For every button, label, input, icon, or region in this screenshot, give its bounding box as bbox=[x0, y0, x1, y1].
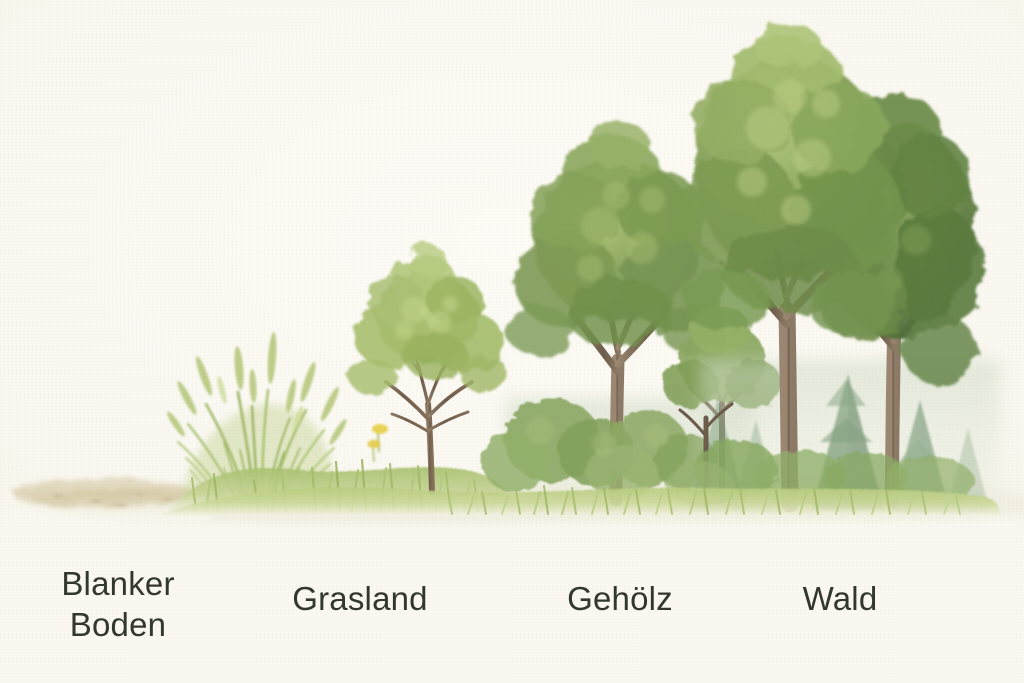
stage-label-grasland: Grasland bbox=[260, 578, 460, 619]
stage-label-blanker-boden: Blanker Boden bbox=[18, 563, 218, 645]
stage-label-wald: Wald bbox=[740, 578, 940, 619]
illustration-canvas: Blanker Boden Grasland Gehölz Wald bbox=[0, 0, 1024, 683]
stage-labels: Blanker Boden Grasland Gehölz Wald bbox=[0, 0, 1024, 683]
stage-label-gehoelz: Gehölz bbox=[520, 578, 720, 619]
